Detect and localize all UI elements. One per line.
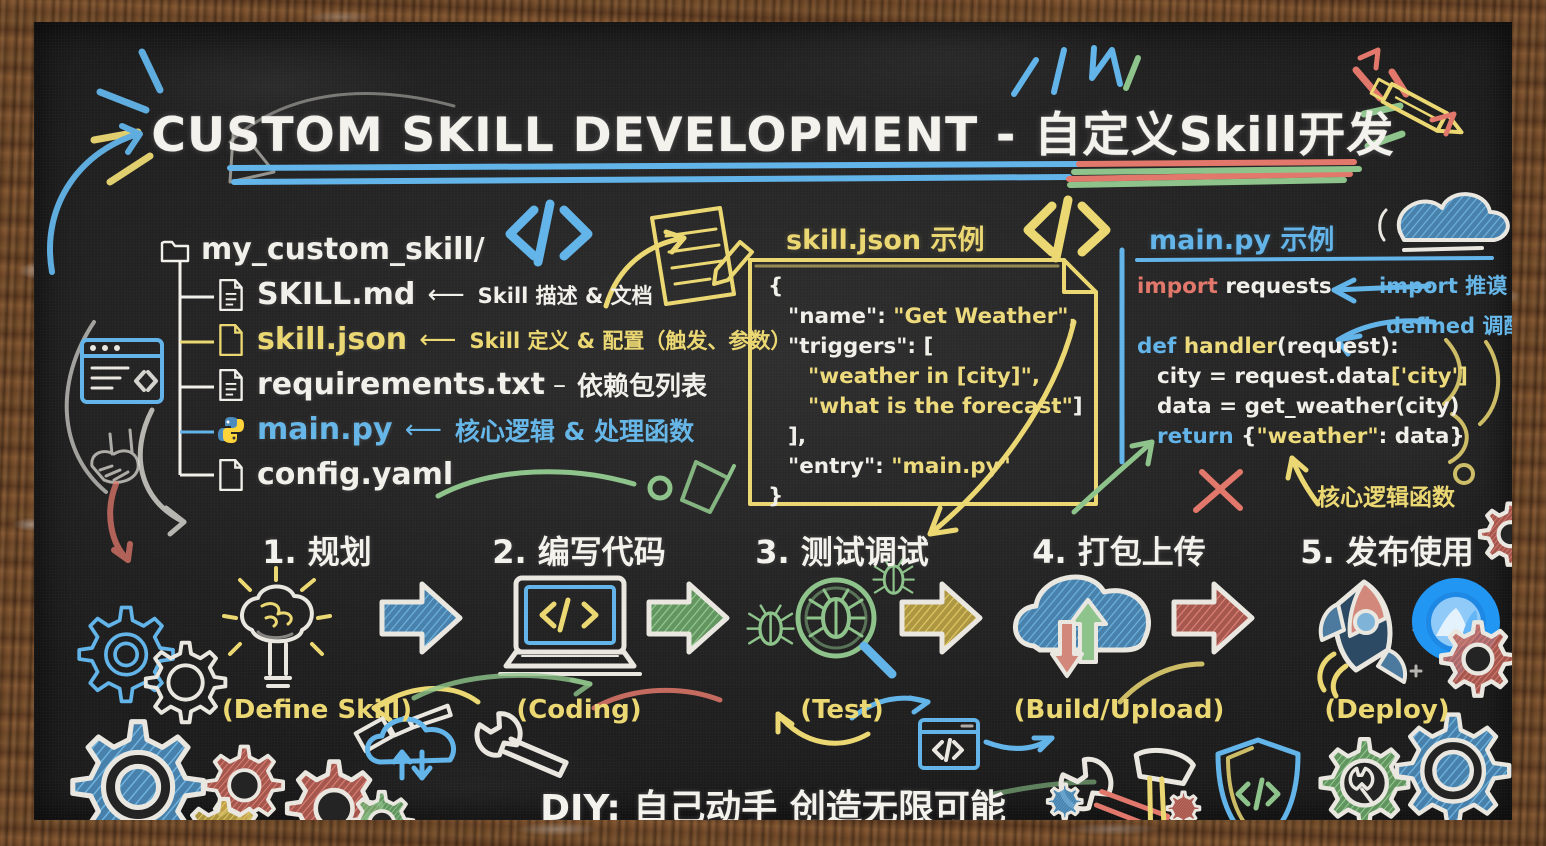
annotation-import: import 推谟 — [1379, 270, 1507, 300]
code-token: handler — [1184, 334, 1277, 359]
file-tree: my_custom_skill/ SKILL.md ⟵ Skill 描述 & 文… — [160, 227, 791, 497]
core-logic-arrow — [1288, 458, 1318, 504]
tree-item-desc: Skill 定义 & 配置（触发、参数） — [469, 325, 791, 355]
tree-item-requirements-txt[interactable]: requirements.txt – 依赖包列表 — [216, 362, 791, 407]
step-subtitle: (Build/Upload) — [994, 695, 1244, 725]
code-token: : data} — [1379, 424, 1465, 449]
document-icon — [216, 458, 246, 492]
code-token: ['city'] — [1391, 364, 1468, 389]
tree-item-skill-json[interactable]: skill.json ⟵ Skill 定义 & 配置（触发、参数） — [216, 317, 791, 362]
step-icon-placeholder — [727, 577, 957, 667]
code-token: def — [1137, 334, 1184, 359]
json-line: } — [768, 482, 1083, 512]
tree-arrow-icon: ⟵ — [419, 325, 453, 355]
py-line: data = get_weather(city) — [1137, 392, 1468, 422]
json-line: "what is the forecast"] — [768, 392, 1083, 422]
step-subtitle: (Define Skill) — [202, 695, 432, 725]
code-token: { — [768, 274, 783, 299]
json-line: "name": "Get Weather", — [768, 302, 1083, 332]
py-line: return {"weather": data} — [1137, 422, 1468, 452]
tree-item-desc: 依赖包列表 — [577, 366, 707, 403]
annotation-core-logic: 核心逻辑函数 — [1317, 478, 1455, 512]
tree-item-name: skill.json — [257, 322, 407, 357]
tree-arrow-icon: ⟵ — [427, 280, 461, 310]
annotation-defined: defined 调配 — [1386, 310, 1512, 340]
step-title: 5. 发布使用 — [1272, 527, 1502, 573]
code-token: ], — [788, 424, 806, 449]
green-up-arrow — [1074, 442, 1152, 512]
step-icon-placeholder — [464, 577, 694, 667]
step-title: 1. 规划 — [202, 527, 432, 573]
json-line: ], — [768, 422, 1083, 452]
step-subtitle: (Deploy) — [1272, 695, 1502, 725]
code-token: requests — [1225, 274, 1331, 299]
code-token: "name": — [788, 304, 893, 329]
step-subtitle: (Test) — [727, 695, 957, 725]
white-arc-decor — [67, 322, 106, 492]
tree-item-config-yaml[interactable]: config.yaml — [216, 452, 791, 497]
code-token: (request): — [1277, 334, 1399, 359]
code-token: } — [768, 484, 783, 509]
code-token: "entry": — [788, 454, 891, 479]
code-token: "Get Weather", — [893, 304, 1076, 329]
code-tag-icon-center — [1028, 200, 1106, 258]
process-steps: 1. 规划 (Define Skill) 2. 编写代码 (Coding) 3.… — [34, 527, 1512, 727]
tree-arrow-icon: ⟵ — [405, 415, 439, 445]
step-title: 4. 打包上传 — [994, 527, 1244, 573]
tree-dash-icon: – — [553, 370, 563, 400]
footer-slogan: DIY: 自己动手 创造无限可能 — [34, 779, 1512, 820]
step-1[interactable]: 1. 规划 (Define Skill) — [202, 527, 432, 725]
hand-sketch-icon — [92, 430, 138, 482]
browser-tag-icon-bottom — [920, 720, 978, 768]
step-5[interactable]: 5. 发布使用 (Deploy) — [1272, 527, 1502, 725]
code-token: import — [1137, 274, 1225, 299]
code-token: ] — [1073, 394, 1083, 419]
step-4[interactable]: 4. 打包上传 (Build/Upload) — [994, 527, 1244, 725]
tree-item-main-py[interactable]: main.py ⟵ 核心逻辑 & 处理函数 — [216, 407, 791, 452]
code-token: return — [1157, 424, 1241, 449]
document-icon — [216, 368, 246, 402]
code-token: { — [1241, 424, 1256, 449]
tree-item-name: SKILL.md — [257, 277, 415, 312]
tree-item-desc: Skill 描述 & 文档 — [478, 280, 653, 310]
code-token: "weather" — [1256, 424, 1378, 449]
json-line: "entry": "main.py" — [768, 452, 1083, 482]
tree-item-skill-md[interactable]: SKILL.md ⟵ Skill 描述 & 文档 — [216, 272, 791, 317]
code-token: city = request.data — [1157, 364, 1391, 389]
step-title: 2. 编写代码 — [464, 527, 694, 573]
code-token: "what is the forecast" — [808, 394, 1073, 419]
json-file-icon — [216, 323, 246, 357]
json-panel-title: skill.json 示例 — [786, 218, 985, 257]
py-line: city = request.data['city'] — [1137, 362, 1468, 392]
browser-code-icon — [82, 340, 162, 402]
py-panel-title: main.py 示例 — [1149, 218, 1334, 257]
json-line: "triggers": [ — [768, 332, 1083, 362]
tree-item-name: config.yaml — [257, 457, 453, 492]
python-icon — [216, 413, 246, 447]
step-icon-placeholder — [994, 577, 1244, 667]
code-token: "main.py" — [891, 454, 1011, 479]
json-line: "weather in [city]", — [768, 362, 1083, 392]
step-subtitle: (Coding) — [464, 695, 694, 725]
code-token: "triggers": [ — [788, 334, 933, 359]
step-icon-placeholder — [1272, 577, 1502, 667]
py-title-underline — [1137, 258, 1492, 260]
tree-item-name: main.py — [257, 412, 393, 447]
step-title: 3. 测试调试 — [727, 527, 957, 573]
json-code-block: {"name": "Get Weather","triggers": ["wea… — [768, 272, 1083, 512]
code-token: data = get_weather(city) — [1157, 394, 1459, 419]
tree-item-desc: 核心逻辑 & 处理函数 — [455, 412, 694, 448]
chalkboard: .cs{fill:none;stroke-linecap:round;strok… — [34, 22, 1512, 820]
code-token: "weather in [city]", — [808, 364, 1040, 389]
red-x-decor — [1196, 472, 1240, 510]
step-3[interactable]: 3. 测试调试 (Test) — [727, 527, 957, 725]
tree-item-name: requirements.txt — [257, 367, 545, 402]
step-2[interactable]: 2. 编写代码 (Coding) — [464, 527, 694, 725]
step-icon-placeholder — [202, 577, 432, 667]
page-title: CUSTOM SKILL DEVELOPMENT - 自定义Skill开发 — [34, 96, 1512, 165]
json-line: { — [768, 272, 1083, 302]
document-icon — [216, 278, 246, 312]
